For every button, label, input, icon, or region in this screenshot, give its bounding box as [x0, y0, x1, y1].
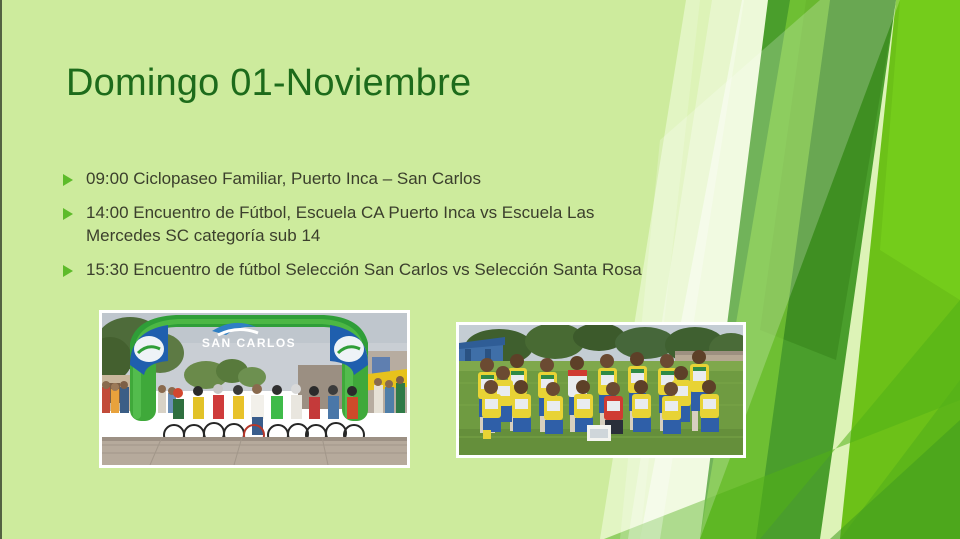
bullet-triangle-icon	[60, 168, 86, 186]
cycling-photo-artwork: SAN CARLOS	[102, 313, 407, 465]
bullet-triangle-icon	[60, 202, 86, 220]
agenda-item: 09:00 Ciclopaseo Familiar, Puerto Inca –…	[60, 168, 670, 191]
agenda-bullet-list: 09:00 Ciclopaseo Familiar, Puerto Inca –…	[60, 168, 670, 293]
agenda-item: 14:00 Encuentro de Fútbol, Escuela CA Pu…	[60, 202, 670, 248]
bullet-triangle-icon	[60, 259, 86, 277]
presentation-slide: Domingo 01-Noviembre 09:00 Ciclopaseo Fa…	[0, 0, 960, 539]
agenda-item-text: 14:00 Encuentro de Fútbol, Escuela CA Pu…	[86, 202, 670, 248]
slide-left-edge-rule	[0, 0, 2, 539]
agenda-item: 15:30 Encuentro de fútbol Selección San …	[60, 259, 670, 282]
football-photo-artwork	[459, 325, 743, 455]
agenda-item-text: 09:00 Ciclopaseo Familiar, Puerto Inca –…	[86, 168, 670, 191]
agenda-item-text: 15:30 Encuentro de fútbol Selección San …	[86, 259, 670, 282]
slide-title: Domingo 01-Noviembre	[66, 62, 686, 106]
cycling-start-arch-photo: SAN CARLOS	[99, 310, 410, 468]
svg-text:SAN CARLOS: SAN CARLOS	[202, 336, 296, 350]
football-team-photo	[456, 322, 746, 458]
